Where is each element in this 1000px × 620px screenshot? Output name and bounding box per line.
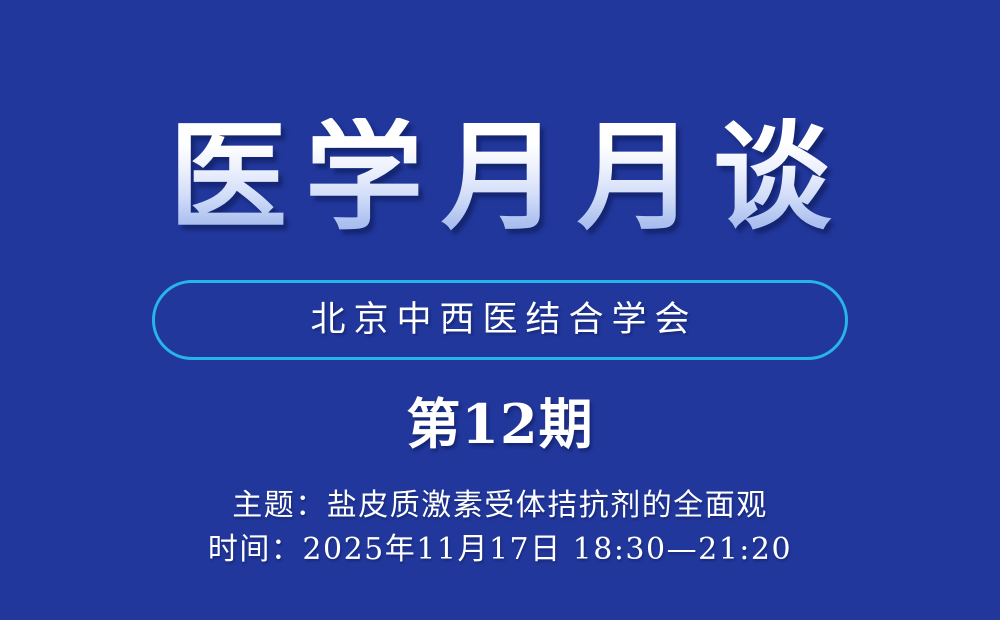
organization-badge-label: 北京中西医结合学会 [302, 303, 697, 338]
event-poster: 医学月月谈 北京中西医结合学会 第12期 主题：盐皮质激素受体拮抗剂的全面观 时… [0, 0, 1000, 620]
organization-badge: 北京中西医结合学会 [152, 280, 848, 360]
event-topic-line: 主题：盐皮质激素受体拮抗剂的全面观 [0, 484, 1000, 528]
poster-title: 医学月月谈 [151, 118, 849, 236]
issue-number: 第12期 [0, 396, 1000, 453]
poster-title-container: 医学月月谈 [0, 118, 1000, 236]
event-time-line: 时间：2025年11月17日 18:30—21:20 [0, 528, 1000, 572]
event-details: 主题：盐皮质激素受体拮抗剂的全面观 时间：2025年11月17日 18:30—2… [0, 484, 1000, 572]
